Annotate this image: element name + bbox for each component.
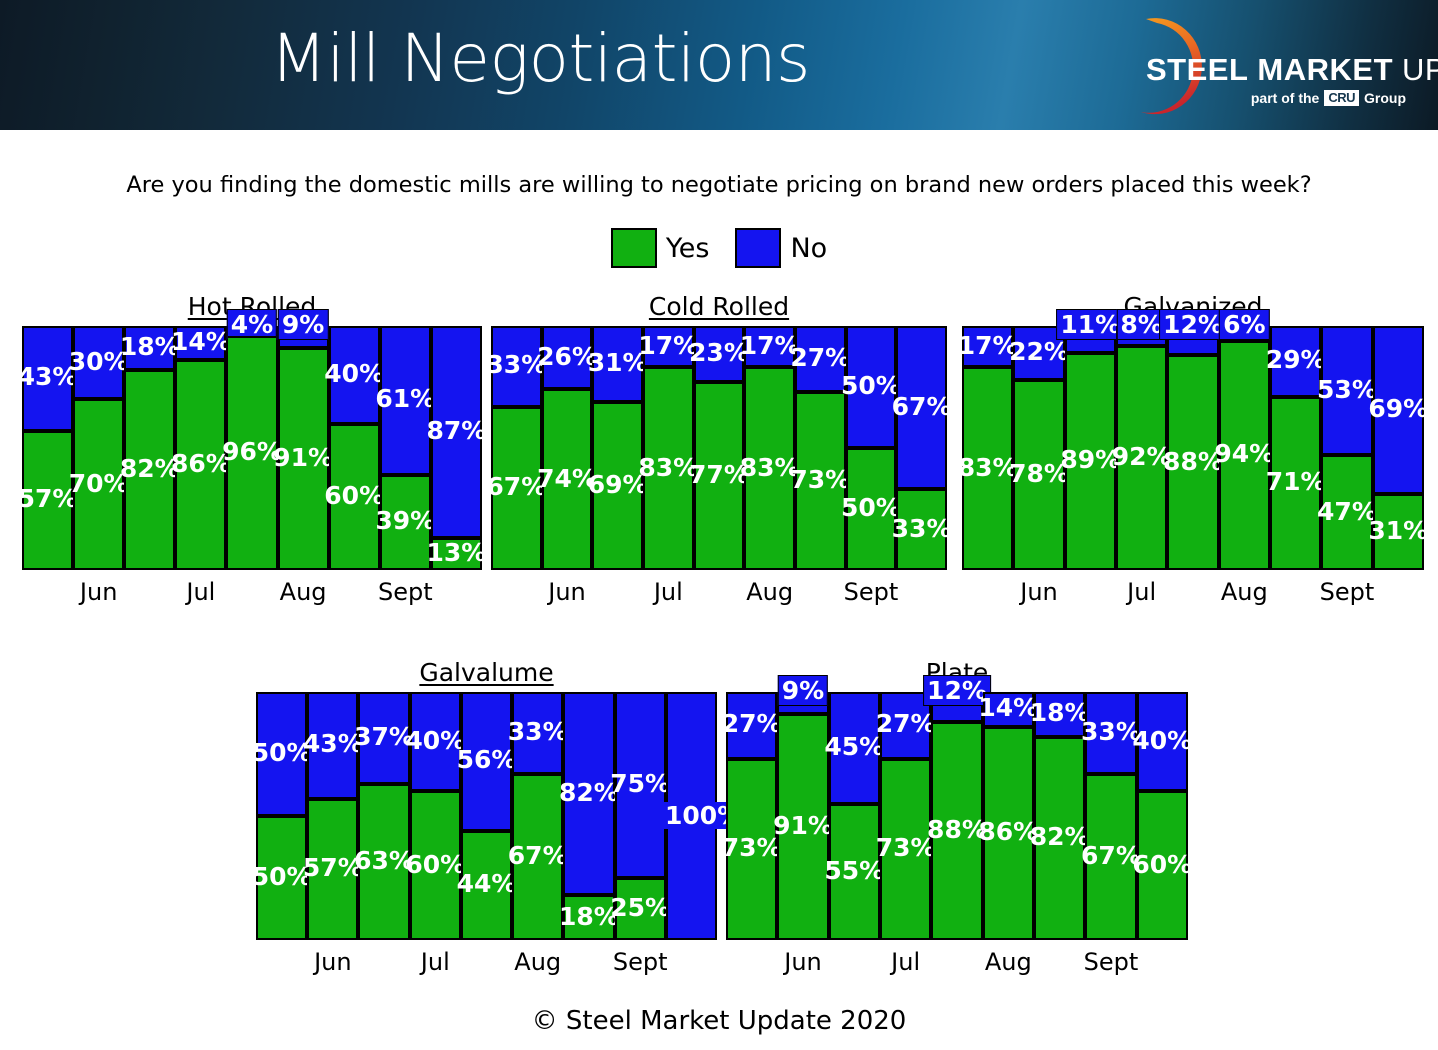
- segment-yes[interactable]: 60%: [412, 791, 459, 940]
- bar-plate-3[interactable]: 45%55%: [829, 692, 880, 940]
- bar-hot-rolled-7[interactable]: 40%60%: [329, 326, 380, 570]
- bar-cold-rolled-4[interactable]: 17%83%: [643, 326, 694, 570]
- bar-cold-rolled-5[interactable]: 23%77%: [694, 326, 745, 570]
- segment-label-no: 27%: [876, 711, 936, 736]
- bar-galvalume-1[interactable]: 50%50%: [256, 692, 307, 940]
- segment-no[interactable]: 37%: [360, 692, 407, 784]
- bar-galvalume-4[interactable]: 40%60%: [410, 692, 461, 940]
- segment-label-no: 75%: [610, 771, 670, 796]
- x-axis-label-sept: Sept: [613, 948, 668, 976]
- segment-yes[interactable]: 67%: [514, 774, 561, 940]
- segment-yes[interactable]: 57%: [24, 431, 71, 570]
- segment-label-yes: 91%: [773, 813, 833, 838]
- segment-no[interactable]: 53%: [1323, 326, 1370, 455]
- segment-yes[interactable]: 18%: [565, 895, 612, 940]
- logo-word-market: MARKET: [1257, 52, 1393, 87]
- segment-no[interactable]: 40%: [1139, 692, 1186, 791]
- segment-label-no: 87%: [427, 418, 487, 443]
- segment-yes[interactable]: 13%: [433, 538, 480, 570]
- logo-tagline: part of the CRU Group: [1251, 90, 1406, 106]
- segment-no[interactable]: 27%: [797, 326, 844, 392]
- segment-no[interactable]: 23%: [696, 326, 743, 382]
- segment-label-no: 11%: [1056, 309, 1124, 340]
- segment-no[interactable]: 56%: [463, 692, 510, 831]
- segment-yes[interactable]: 88%: [1169, 355, 1216, 570]
- segment-no[interactable]: 33%: [1087, 692, 1134, 774]
- segment-no[interactable]: 67%: [898, 326, 945, 489]
- segment-no[interactable]: 50%: [258, 692, 305, 816]
- segment-no[interactable]: 33%: [514, 692, 561, 774]
- segment-no[interactable]: 17%: [746, 326, 793, 367]
- segment-yes[interactable]: 82%: [1036, 737, 1083, 940]
- survey-question: Are you finding the domestic mills are w…: [0, 172, 1438, 198]
- segment-no[interactable]: 6%: [1221, 326, 1268, 341]
- segment-no[interactable]: 33%: [493, 326, 540, 407]
- segment-no[interactable]: 9%: [779, 692, 826, 714]
- segment-label-yes: 73%: [790, 467, 850, 492]
- segment-no[interactable]: 82%: [565, 692, 612, 895]
- segment-yes[interactable]: 91%: [779, 714, 826, 940]
- bar-galvanized-5[interactable]: 12%88%: [1167, 326, 1218, 570]
- segment-yes[interactable]: 31%: [1375, 494, 1422, 570]
- x-axis-label-jul: Jul: [654, 578, 683, 606]
- segment-yes[interactable]: 60%: [331, 424, 378, 570]
- x-axis-label-jun: Jun: [1020, 578, 1058, 606]
- x-axis-label-aug: Aug: [514, 948, 561, 976]
- app-header: Mill Negotiations STEELMARKETUPDATE part…: [0, 0, 1438, 130]
- bar-galvalume-6[interactable]: 33%67%: [512, 692, 563, 940]
- bar-cold-rolled-6[interactable]: 17%83%: [744, 326, 795, 570]
- bar-plate-8[interactable]: 33%67%: [1085, 692, 1136, 940]
- x-axis-label-sept: Sept: [1084, 948, 1139, 976]
- bar-hot-rolled-8[interactable]: 61%39%: [380, 326, 431, 570]
- chart-legend: Yes No: [0, 228, 1438, 268]
- segment-label-yes: 67%: [508, 843, 568, 868]
- segment-yes[interactable]: 63%: [360, 784, 407, 940]
- legend-item-yes: Yes: [611, 228, 710, 268]
- segment-yes[interactable]: 83%: [964, 367, 1011, 570]
- segment-no[interactable]: 50%: [848, 326, 895, 448]
- bar-hot-rolled-5[interactable]: 4%96%: [226, 326, 277, 570]
- bar-galvanized-9[interactable]: 69%31%: [1373, 326, 1424, 570]
- x-axis-label-jul: Jul: [421, 948, 450, 976]
- bar-cold-rolled-8[interactable]: 50%50%: [846, 326, 897, 570]
- segment-label-no: 14%: [171, 329, 231, 354]
- segment-label-yes: 71%: [1266, 469, 1326, 494]
- segment-label-yes: 25%: [610, 895, 670, 920]
- bar-plate-2[interactable]: 9%91%: [777, 692, 828, 940]
- segment-no[interactable]: 14%: [985, 692, 1032, 727]
- x-axis-labels: JunJulAugSept: [962, 578, 1424, 608]
- x-axis-labels: JunJulAugSept: [491, 578, 947, 608]
- x-axis-labels: JunJulAugSept: [22, 578, 482, 608]
- segment-no[interactable]: 14%: [177, 326, 224, 360]
- segment-no[interactable]: 12%: [933, 692, 980, 722]
- bar-galvalume-7[interactable]: 82%18%: [563, 692, 614, 940]
- segment-yes[interactable]: 92%: [1118, 346, 1165, 570]
- bar-galvalume-5[interactable]: 56%44%: [461, 692, 512, 940]
- segment-label-no: 40%: [1132, 728, 1192, 753]
- x-axis-label-sept: Sept: [378, 578, 433, 606]
- segment-label-no: 9%: [278, 309, 328, 340]
- segment-yes[interactable]: 50%: [258, 816, 305, 940]
- x-axis-labels: JunJulAugSept: [256, 948, 717, 978]
- cru-badge: CRU: [1324, 90, 1359, 106]
- legend-item-no: No: [735, 228, 827, 268]
- segment-yes[interactable]: 83%: [645, 367, 692, 570]
- segment-no[interactable]: 100%: [668, 692, 715, 940]
- segment-yes[interactable]: 74%: [544, 389, 591, 570]
- bar-plate-1[interactable]: 27%73%: [726, 692, 777, 940]
- segment-label-yes: 31%: [1368, 518, 1428, 543]
- segment-yes[interactable]: 55%: [831, 804, 878, 940]
- x-axis-label-aug: Aug: [985, 948, 1032, 976]
- segment-yes[interactable]: 69%: [594, 402, 641, 570]
- legend-label-no: No: [790, 233, 827, 264]
- bar-hot-rolled-9[interactable]: 87%13%: [431, 326, 482, 570]
- bar-galvalume-9[interactable]: 100%: [666, 692, 717, 940]
- segment-label-no: 56%: [457, 747, 517, 772]
- x-axis-label-sept: Sept: [844, 578, 899, 606]
- segment-yes[interactable]: 73%: [728, 759, 775, 940]
- segment-no[interactable]: 61%: [382, 326, 429, 475]
- segment-yes[interactable]: 33%: [898, 489, 945, 570]
- chart-title-cold-rolled: Cold Rolled: [491, 292, 947, 321]
- bar-galvanized-2[interactable]: 22%78%: [1013, 326, 1064, 570]
- bar-galvanized-6[interactable]: 6%94%: [1219, 326, 1270, 570]
- bar-galvanized-8[interactable]: 53%47%: [1321, 326, 1372, 570]
- segment-no[interactable]: 40%: [412, 692, 459, 791]
- segment-yes[interactable]: 71%: [1272, 397, 1319, 570]
- segment-no[interactable]: 40%: [331, 326, 378, 424]
- bar-galvalume-3[interactable]: 37%63%: [358, 692, 409, 940]
- bar-plate-6[interactable]: 14%86%: [983, 692, 1034, 940]
- segment-yes[interactable]: 70%: [75, 399, 122, 570]
- bar-hot-rolled-3[interactable]: 18%82%: [124, 326, 175, 570]
- legend-swatch-no: [735, 228, 781, 268]
- bar-galvanized-3[interactable]: 11%89%: [1065, 326, 1116, 570]
- x-axis-label-jun: Jun: [314, 948, 352, 976]
- x-axis-labels: JunJulAugSept: [726, 948, 1188, 978]
- segment-yes[interactable]: 44%: [463, 831, 510, 940]
- segment-yes[interactable]: 94%: [1221, 341, 1268, 570]
- segment-no[interactable]: 75%: [617, 692, 664, 878]
- segment-yes[interactable]: 91%: [280, 348, 327, 570]
- segment-no[interactable]: 17%: [645, 326, 692, 367]
- segment-no[interactable]: 12%: [1169, 326, 1216, 355]
- segment-yes[interactable]: 73%: [797, 392, 844, 570]
- bar-hot-rolled-1[interactable]: 43%57%: [22, 326, 73, 570]
- bar-galvanized-1[interactable]: 17%83%: [962, 326, 1013, 570]
- segment-label-yes: 13%: [427, 540, 487, 565]
- bar-plate-7[interactable]: 18%82%: [1034, 692, 1085, 940]
- segment-no[interactable]: 43%: [24, 326, 71, 431]
- plot-area: 50%50%43%57%37%63%40%60%56%44%33%67%82%1…: [256, 692, 717, 940]
- x-axis-label-aug: Aug: [1221, 578, 1268, 606]
- bar-cold-rolled-2[interactable]: 26%74%: [542, 326, 593, 570]
- legend-swatch-yes: [611, 228, 657, 268]
- segment-label-yes: 94%: [1214, 441, 1274, 466]
- logo-tagline-suffix: Group: [1364, 90, 1406, 106]
- segment-label-no: 12%: [1159, 309, 1227, 340]
- segment-label-no: 9%: [778, 675, 828, 706]
- segment-label-yes: 60%: [324, 483, 384, 508]
- segment-label-no: 27%: [790, 345, 850, 370]
- bar-hot-rolled-2[interactable]: 30%70%: [73, 326, 124, 570]
- segment-yes[interactable]: 67%: [493, 407, 540, 570]
- page-title: Mill Negotiations: [0, 20, 1080, 97]
- segment-label-no: 40%: [324, 361, 384, 386]
- plot-area: 17%83%22%78%11%89%8%92%12%88%6%94%29%71%…: [962, 326, 1424, 570]
- segment-label-yes: 91%: [273, 445, 333, 470]
- segment-yes[interactable]: 88%: [933, 722, 980, 940]
- segment-yes[interactable]: 57%: [309, 799, 356, 940]
- segment-label-no: 61%: [375, 386, 435, 411]
- x-axis-label-jun: Jun: [784, 948, 822, 976]
- segment-yes[interactable]: 96%: [228, 336, 275, 570]
- x-axis-label-jul: Jul: [186, 578, 215, 606]
- segment-label-no: 33%: [508, 719, 568, 744]
- plot-area: 33%67%26%74%31%69%17%83%23%77%17%83%27%7…: [491, 326, 947, 570]
- segment-yes[interactable]: 39%: [382, 475, 429, 570]
- segment-yes[interactable]: 60%: [1139, 791, 1186, 940]
- segment-yes[interactable]: 25%: [617, 878, 664, 940]
- segment-label-yes: 33%: [892, 516, 952, 541]
- x-axis-label-aug: Aug: [280, 578, 327, 606]
- bar-hot-rolled-4[interactable]: 14%86%: [175, 326, 226, 570]
- segment-label-yes: 44%: [457, 871, 517, 896]
- segment-no[interactable]: 31%: [594, 326, 641, 402]
- segment-no[interactable]: 43%: [309, 692, 356, 799]
- segment-label-no: 27%: [722, 711, 782, 736]
- segment-yes[interactable]: 77%: [696, 382, 743, 570]
- segment-yes[interactable]: 89%: [1067, 353, 1114, 570]
- segment-yes[interactable]: 82%: [126, 370, 173, 570]
- chart-title-galvalume: Galvalume: [256, 658, 717, 687]
- x-axis-label-aug: Aug: [746, 578, 793, 606]
- segment-yes[interactable]: 47%: [1323, 455, 1370, 570]
- segment-yes[interactable]: 50%: [848, 448, 895, 570]
- bar-cold-rolled-3[interactable]: 31%69%: [592, 326, 643, 570]
- plot-area: 27%73%9%91%45%55%27%73%12%88%14%86%18%82…: [726, 692, 1188, 940]
- segment-no[interactable]: 87%: [433, 326, 480, 538]
- segment-no[interactable]: 27%: [728, 692, 775, 759]
- legend-label-yes: Yes: [666, 233, 710, 264]
- bar-galvalume-8[interactable]: 75%25%: [615, 692, 666, 940]
- bar-galvanized-4[interactable]: 8%92%: [1116, 326, 1167, 570]
- logo-wordmark: STEELMARKETUPDATE: [1146, 52, 1438, 88]
- segment-label-no: 6%: [1219, 309, 1269, 340]
- plot-area: 43%57%30%70%18%82%14%86%4%96%9%91%40%60%…: [22, 326, 482, 570]
- steel-market-update-logo: STEELMARKETUPDATE part of the CRU Group: [1060, 14, 1410, 118]
- bar-cold-rolled-1[interactable]: 33%67%: [491, 326, 542, 570]
- segment-yes[interactable]: 73%: [882, 759, 929, 940]
- bar-galvanized-7[interactable]: 29%71%: [1270, 326, 1321, 570]
- segment-no[interactable]: 18%: [1036, 692, 1083, 737]
- segment-no[interactable]: 11%: [1067, 326, 1114, 353]
- segment-no[interactable]: 17%: [964, 326, 1011, 367]
- segment-no[interactable]: 4%: [228, 326, 275, 336]
- logo-word-steel: STEEL: [1146, 52, 1248, 87]
- logo-word-update: UPDATE: [1402, 52, 1438, 87]
- x-axis-label-jun: Jun: [80, 578, 118, 606]
- segment-label-no: 69%: [1368, 396, 1428, 421]
- copyright-footer: © Steel Market Update 2020: [0, 1006, 1438, 1036]
- bar-galvalume-2[interactable]: 43%57%: [307, 692, 358, 940]
- segment-label-no: 29%: [1266, 347, 1326, 372]
- bar-plate-5[interactable]: 12%88%: [931, 692, 982, 940]
- bar-hot-rolled-6[interactable]: 9%91%: [278, 326, 329, 570]
- bar-plate-4[interactable]: 27%73%: [880, 692, 931, 940]
- segment-yes[interactable]: 86%: [177, 360, 224, 570]
- bar-plate-9[interactable]: 40%60%: [1137, 692, 1188, 940]
- segment-label-no: 22%: [1009, 339, 1069, 364]
- segment-yes[interactable]: 86%: [985, 727, 1032, 940]
- segment-label-no: 67%: [892, 394, 952, 419]
- segment-no[interactable]: 29%: [1272, 326, 1319, 397]
- logo-tagline-prefix: part of the: [1251, 90, 1319, 106]
- bar-cold-rolled-9[interactable]: 67%33%: [896, 326, 947, 570]
- x-axis-label-jun: Jun: [548, 578, 586, 606]
- segment-no[interactable]: 69%: [1375, 326, 1422, 494]
- x-axis-label-sept: Sept: [1320, 578, 1375, 606]
- bar-cold-rolled-7[interactable]: 27%73%: [795, 326, 846, 570]
- segment-yes[interactable]: 83%: [746, 367, 793, 570]
- segment-yes[interactable]: 67%: [1087, 774, 1134, 940]
- segment-no[interactable]: 45%: [831, 692, 878, 804]
- segment-label-yes: 60%: [1132, 852, 1192, 877]
- segment-label-yes: 39%: [375, 508, 435, 533]
- x-axis-label-jul: Jul: [1127, 578, 1156, 606]
- segment-yes[interactable]: 78%: [1015, 380, 1062, 570]
- x-axis-label-jul: Jul: [891, 948, 920, 976]
- segment-no[interactable]: 26%: [544, 326, 591, 389]
- segment-no[interactable]: 18%: [126, 326, 173, 370]
- segment-no[interactable]: 9%: [280, 326, 327, 348]
- segment-no[interactable]: 30%: [75, 326, 122, 399]
